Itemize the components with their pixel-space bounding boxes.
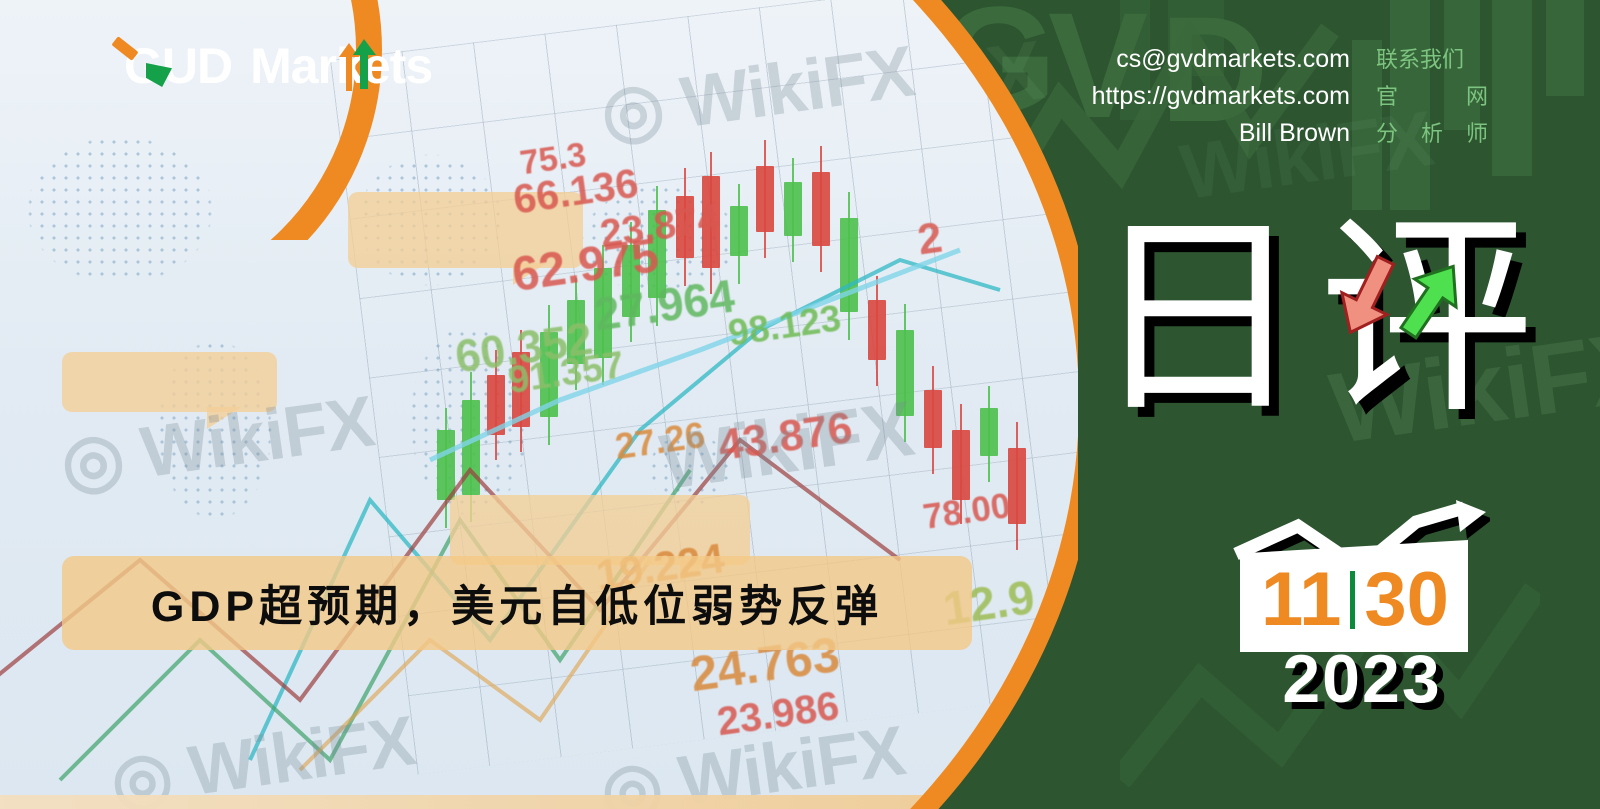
date-month: 11	[1261, 562, 1341, 638]
label-char: 析	[1421, 116, 1443, 148]
contact-email-value[interactable]: cs@gvdmarkets.com	[1116, 45, 1350, 74]
logo-arrow-green-icon	[350, 37, 384, 89]
date-year: 2023	[1246, 645, 1478, 713]
contact-row[interactable]: cs@gvdmarkets.com 联系我们	[1116, 42, 1488, 74]
bg-bar-shape	[1492, 0, 1532, 176]
contact-row[interactable]: https://gvdmarkets.com 官网	[1092, 79, 1488, 111]
date-month-day: 11 30	[1248, 554, 1462, 646]
label-char: 官	[1376, 79, 1398, 111]
section-title-daily-review: 日评	[1090, 216, 1548, 420]
label-char: 师	[1466, 116, 1488, 148]
contact-email-label: 联系我们	[1376, 42, 1488, 74]
date-separator-icon	[1350, 571, 1355, 629]
contact-website-value[interactable]: https://gvdmarkets.com	[1092, 82, 1350, 111]
contact-block: cs@gvdmarkets.com 联系我们 https://gvdmarket…	[1092, 42, 1488, 148]
contact-analyst-label: 分析师	[1376, 116, 1488, 148]
logo-text-ud: UD	[162, 37, 232, 95]
page-title: GDP超预期，美元自低位弱势反弹	[151, 572, 883, 634]
title-char-ri: 日	[1090, 216, 1319, 420]
logo-text-mar: Mar	[250, 37, 336, 95]
logo-mark-icon: G	[124, 37, 162, 95]
contact-website-label: 官网	[1376, 79, 1488, 111]
daily-review-banner: $ $ G V D WikiFX WikiFX WikiFX	[0, 0, 1600, 809]
headline-band: GDP超预期，美元自低位弱势反弹	[62, 556, 972, 650]
contact-analyst-value: Bill Brown	[1239, 119, 1350, 148]
label-char: 分	[1376, 116, 1398, 148]
brand-logo[interactable]: G UD Mar k ets	[124, 36, 432, 96]
label-char: 网	[1466, 79, 1488, 111]
bg-bar-shape	[1546, 0, 1584, 96]
contact-row: Bill Brown 分析师	[1239, 116, 1488, 148]
date-day: 30	[1364, 562, 1449, 638]
